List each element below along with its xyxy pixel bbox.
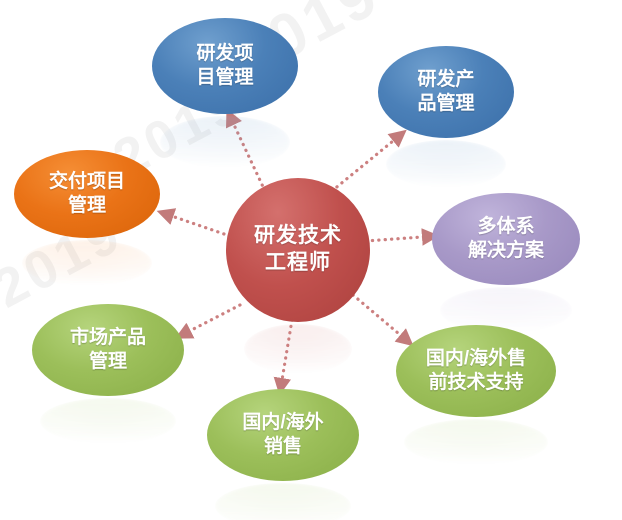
center-label-line1: 研发技术 <box>254 224 342 247</box>
node-label-line2: 管理 <box>89 351 127 372</box>
node-market-product-management[interactable]: 市场产品 管理 <box>32 304 184 396</box>
node-multisystem-solution[interactable]: 多体系 解决方案 <box>432 193 580 285</box>
node-label-line1: 交付项目 <box>49 171 125 192</box>
node-rd-product-management[interactable]: 研发产 品管理 <box>378 46 514 138</box>
connector-to-rd-project <box>228 112 265 191</box>
connector-to-delivery <box>160 212 230 236</box>
node-rd-project-management[interactable]: 研发项 目管理 <box>152 18 298 114</box>
node-reflection <box>40 398 176 444</box>
node-label-line2: 管理 <box>68 195 106 216</box>
center-label-line2: 工程师 <box>265 251 331 274</box>
node-presales-technical-support[interactable]: 国内/海外售 前技术支持 <box>396 325 556 417</box>
connector-to-presales <box>353 295 411 344</box>
connector-to-multisystem <box>366 236 436 241</box>
node-label-line1: 多体系 <box>477 216 534 237</box>
node-delivery-project-management[interactable]: 交付项目 管理 <box>14 150 160 238</box>
node-label-line2: 目管理 <box>196 67 253 88</box>
node-label-line1: 国内/海外售 <box>426 348 526 369</box>
node-reflection <box>22 240 152 286</box>
node-label-line2: 前技术支持 <box>428 372 523 393</box>
node-center-rd-engineer[interactable]: 研发技术 工程师 <box>226 178 370 322</box>
connector-to-sales <box>280 320 292 392</box>
connector-to-rd-product <box>327 132 404 195</box>
node-reflection <box>386 140 506 188</box>
connector-to-market <box>178 305 240 337</box>
node-label-line1: 市场产品 <box>70 327 146 348</box>
node-reflection <box>244 324 352 374</box>
node-reflection <box>160 116 290 168</box>
node-reflection <box>404 419 548 465</box>
node-label-line1: 国内/海外 <box>242 412 323 433</box>
node-reflection <box>215 483 351 520</box>
node-label-line2: 销售 <box>264 436 302 457</box>
node-label-line2: 品管理 <box>417 93 474 114</box>
diagram-canvas: 2019 2019 2019 研发项 目管理 <box>0 0 622 520</box>
node-domestic-overseas-sales[interactable]: 国内/海外 销售 <box>207 389 359 481</box>
node-label-line1: 研发产 <box>417 69 474 90</box>
node-label-line1: 研发项 <box>196 43 253 64</box>
node-label-line2: 解决方案 <box>468 240 544 261</box>
